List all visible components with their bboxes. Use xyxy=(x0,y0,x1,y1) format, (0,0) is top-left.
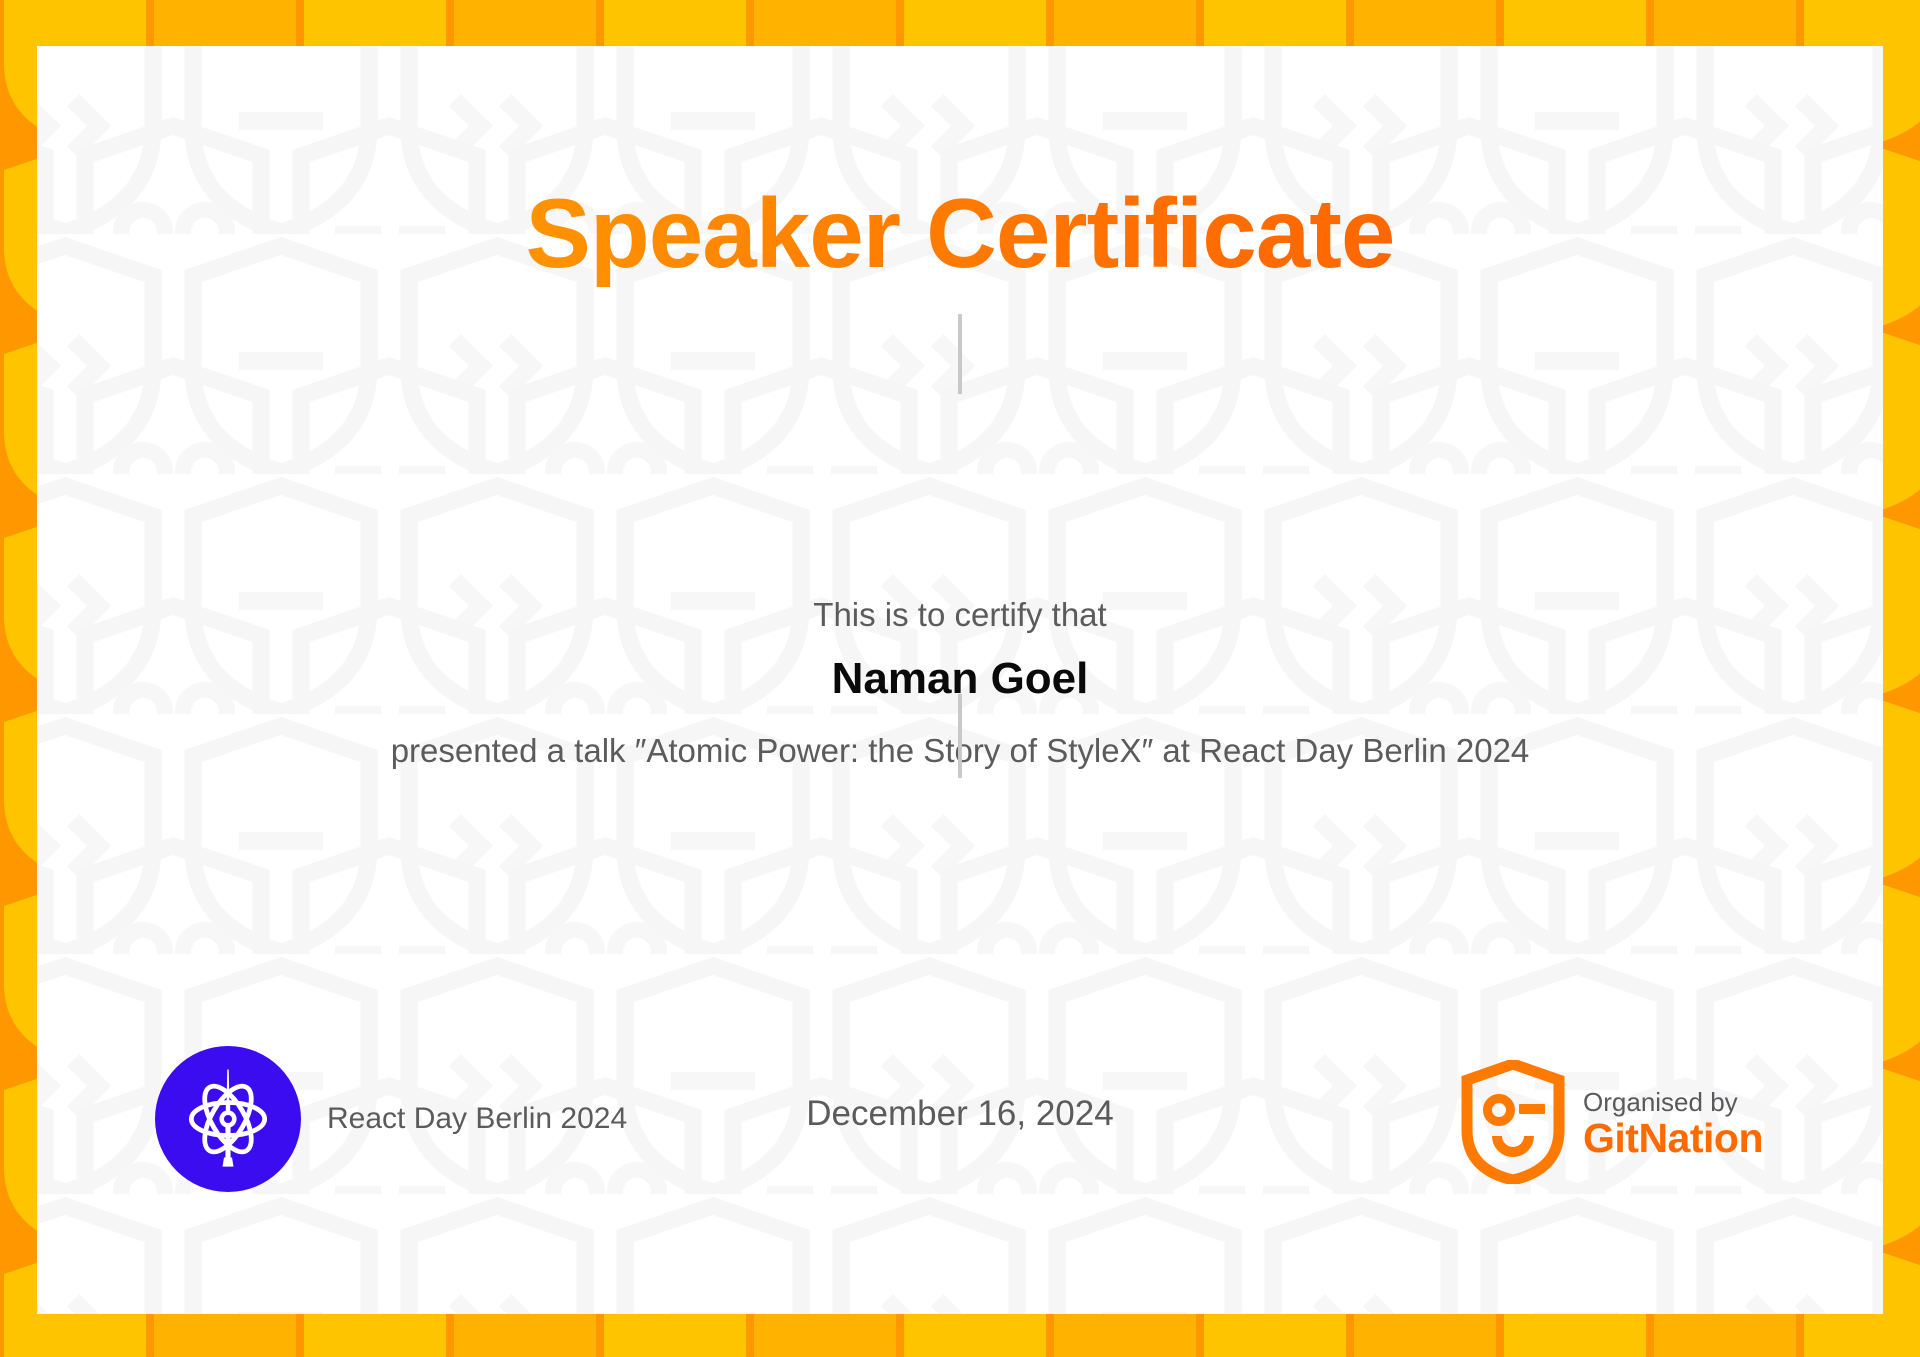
gitnation-shield-face-icon xyxy=(1461,1060,1565,1189)
certificate-footer: React Day Berlin 2024 December 16, 2024 xyxy=(37,1046,1883,1226)
divider-top xyxy=(958,314,962,394)
organiser-text-block: Organised by GitNation xyxy=(1583,1088,1763,1160)
page-title: Speaker Certificate xyxy=(37,181,1883,287)
organiser-name-label: GitNation xyxy=(1583,1116,1763,1160)
gitnation-logo-svg xyxy=(1461,1060,1565,1184)
certificate-content: Speaker Certificate This is to certify t… xyxy=(37,46,1883,1314)
organised-by-label: Organised by xyxy=(1583,1088,1763,1116)
speaker-certificate: Speaker Certificate This is to certify t… xyxy=(0,0,1920,1357)
certificate-page: Speaker Certificate This is to certify t… xyxy=(37,46,1883,1314)
divider-bottom xyxy=(958,694,962,778)
certify-line: This is to certify that xyxy=(37,596,1883,634)
organiser-branding: Organised by GitNation xyxy=(1461,1060,1763,1189)
